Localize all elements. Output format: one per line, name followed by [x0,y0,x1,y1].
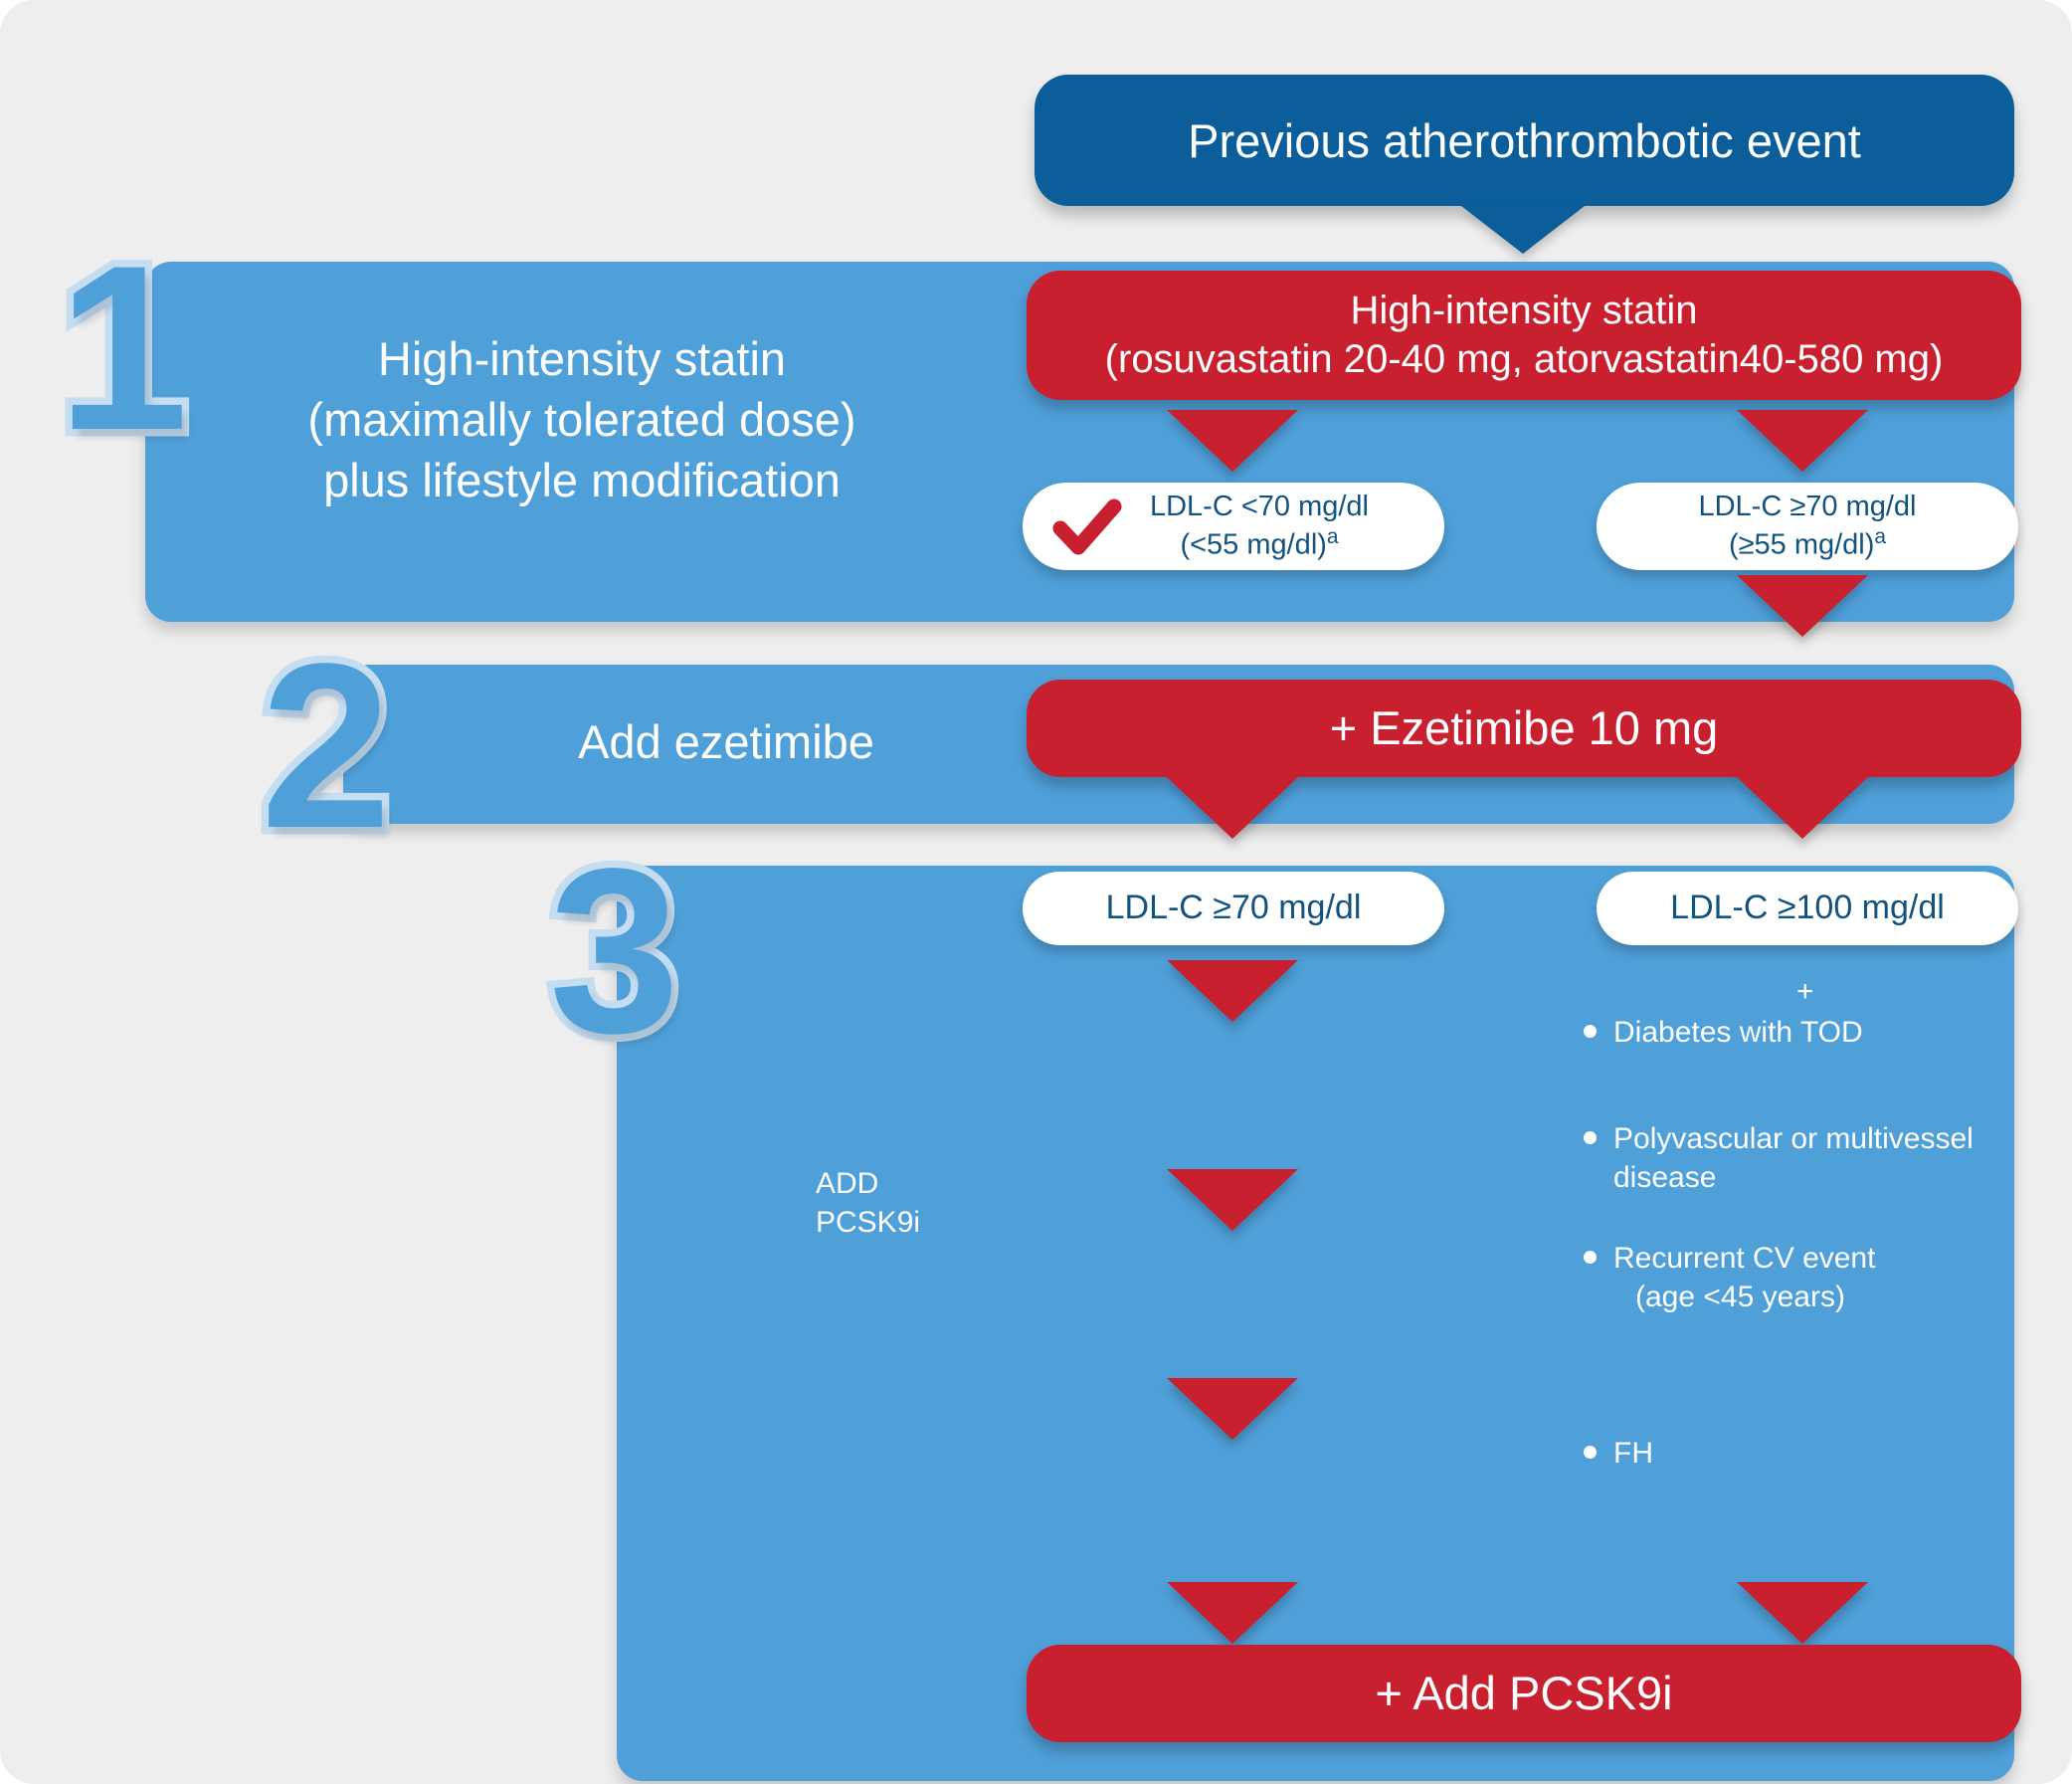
criteria-3-line2: (age <45 years) [1635,1278,1845,1316]
step-1-action-statin-box: High-intensity statin (rosuvastatin 20-4… [1027,271,2021,400]
step-1-outcome-left-line1: LDL-C <70 mg/dl [1150,490,1369,524]
header-down-arrow-icon [1461,206,1585,254]
criteria-1-line1: Diabetes with TOD [1613,1016,1863,1049]
list-item: Diabetes with TOD [1580,1013,1997,1052]
step-2-action-ezetimibe-box: + Ezetimibe 10 mg [1027,680,2021,777]
step-2-action-label: + Ezetimibe 10 mg [1330,699,1719,756]
criteria-3-line1: Recurrent CV event [1613,1242,1875,1275]
step-1-outcome-ldl-high-pill: LDL-C ≥70 mg/dl (≥55 mg/dl)a [1597,483,2018,570]
list-item: Polyvascular or multivessel disease [1580,1119,1997,1197]
step-3-mid-arrow-2-icon [1167,1169,1298,1231]
criteria-2-line1: Polyvascular or multivessel [1613,1122,1974,1155]
step-1-panel-label-line3: plus lifestyle modification [169,450,995,510]
step-2-panel-label: Add ezetimibe [428,711,1025,772]
step-2-left-down-arrow-icon [1167,777,1298,839]
step-3-outcome-left-label: LDL-C ≥70 mg/dl [1106,888,1362,928]
header-label: Previous atherothrombotic event [1188,113,1861,168]
step-1-outcome-right-line2: (≥55 mg/dl) [1729,529,1874,561]
criteria-4-line1: FH [1613,1437,1653,1470]
step-3-outcome-right-label: LDL-C ≥100 mg/dl [1670,888,1945,928]
step-3-outcome-ldl70-pill: LDL-C ≥70 mg/dl [1023,872,1444,945]
step-2-panel-label-text: Add ezetimibe [578,715,874,768]
step-1-outcome-left-line2: (<55 mg/dl) [1180,529,1326,561]
step-1-right-down-arrow-icon [1737,410,1868,472]
step-1-outcome-left-footnote: a [1327,525,1339,548]
step-1-action-line1: High-intensity statin [1105,287,1944,335]
step-3-panel-label: ADD PCSK9i [816,1164,920,1242]
step-1-outcome-right-line1: LDL-C ≥70 mg/dl [1698,490,1916,524]
step-3-criteria-plus: + [1796,975,1814,1009]
step-1-outcome-right-footnote: a [1874,525,1886,548]
step-3-mid-arrow-3-icon [1167,1378,1298,1440]
step-2-number: 2 [261,629,385,864]
header-previous-event-box: Previous atherothrombotic event [1035,75,2014,206]
step-3-action-label: + Add PCSK9i [1375,1665,1672,1721]
step-1-action-line2: (rosuvastatin 20-40 mg, atorvastatin40-5… [1105,335,1944,384]
flowchart-canvas: Previous atherothrombotic event 1 High-i… [0,0,2072,1784]
step-3-panel-label-line1: ADD [816,1164,920,1203]
step-3-mid-arrow-1-icon [1167,960,1298,1022]
step-3-action-pcsk9i-box: + Add PCSK9i [1027,1645,2021,1742]
step-1-left-down-arrow-icon [1167,410,1298,472]
step-1-number: 1 [58,231,182,466]
step-3-outcome-ldl100-pill: LDL-C ≥100 mg/dl [1597,872,2018,945]
step-2-right-down-arrow-icon [1737,777,1868,839]
step-1-panel-label: High-intensity statin (maximally tolerat… [169,328,995,510]
list-item: Recurrent CV event (age <45 years) [1580,1239,1997,1316]
step-1-panel-label-line1: High-intensity statin [169,328,995,389]
step-3-criteria-list: Diabetes with TOD Polyvascular or multiv… [1580,1013,1997,1473]
step-3-right-down-arrow-icon [1737,1582,1868,1644]
step-3-number: 3 [549,834,673,1069]
step-1-outcome-ldl-low-pill: LDL-C <70 mg/dl (<55 mg/dl)a [1023,483,1444,570]
step-1-panel-label-line2: (maximally tolerated dose) [169,389,995,450]
step-3-panel-label-line2: PCSK9i [816,1203,920,1242]
step-1-to-step-2-arrow-icon [1737,575,1868,637]
criteria-2-line2: disease [1613,1161,1716,1194]
list-item: FH [1580,1434,1997,1473]
step-3-mid-arrow-4-icon [1167,1582,1298,1644]
checkmark-icon [1052,498,1122,558]
